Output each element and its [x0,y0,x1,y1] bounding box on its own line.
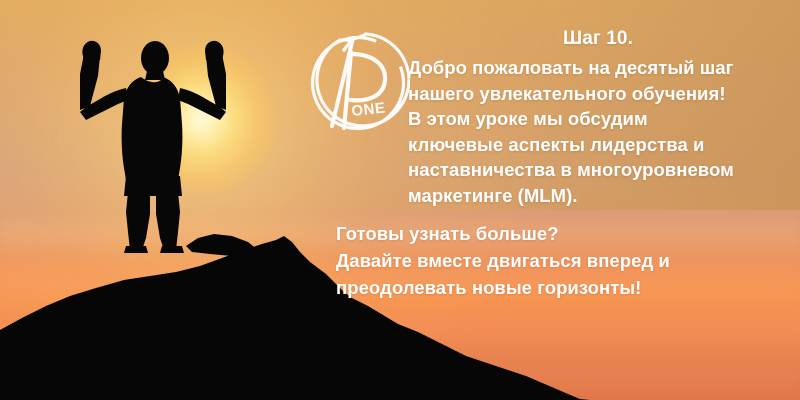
main-line-3: В этом уроке мы обсудим [408,106,800,132]
main-line-4: ключевые аспекты лидерства и [408,132,800,158]
main-line-2: нашего увлекательного обучения! [408,81,800,107]
banner-copy: Шаг 10. Добро пожаловать на десятый шаг … [0,0,800,400]
main-line-6: маркетинге (MLM). [408,183,800,209]
cta-line-2: Давайте вместе двигаться вперед и [336,247,800,274]
step-title: Шаг 10. [400,28,796,50]
promo-banner: ONE Шаг 10. Добро пожаловать на десятый … [0,0,800,400]
main-paragraph: Добро пожаловать на десятый шаг нашего у… [408,55,800,208]
main-line-5: наставничества в многоуровневом [408,157,800,183]
main-line-1: Добро пожаловать на десятый шаг [408,55,800,81]
cta-paragraph: Готовы узнать больше? Давайте вместе дви… [336,220,800,301]
cta-line-3: преодолевать новые горизонты! [336,274,800,301]
cta-line-1: Готовы узнать больше? [336,220,800,247]
